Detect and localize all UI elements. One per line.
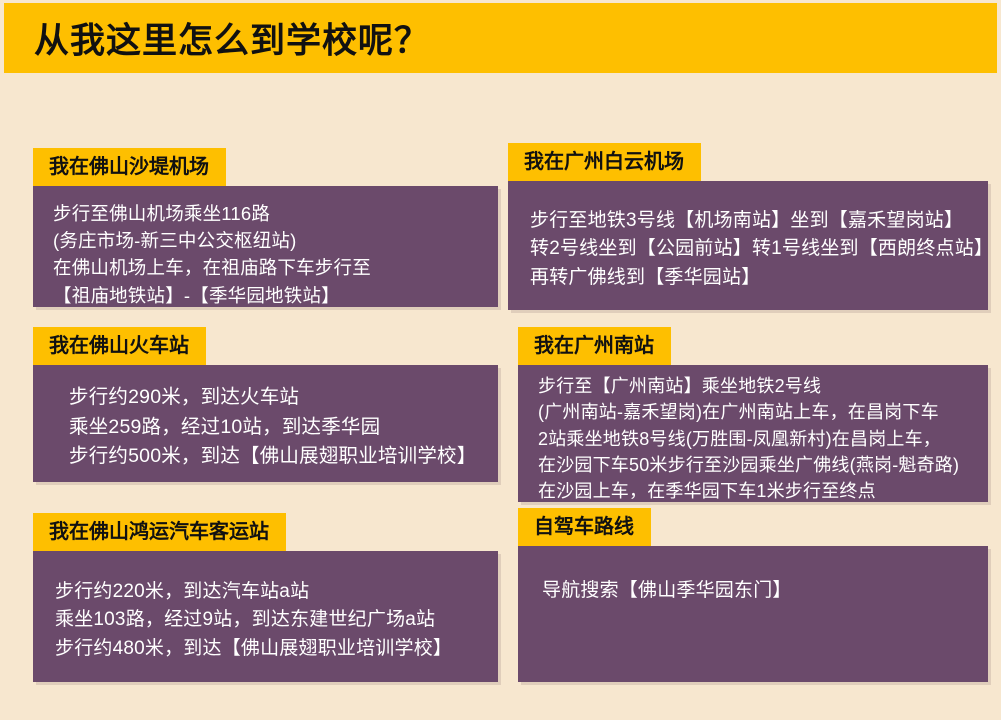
card-line: 再转广佛线到【季华园站】: [530, 264, 974, 293]
card-tab: 我在佛山沙堤机场: [33, 148, 226, 186]
card-line: 乘坐259路，经过10站，到达季华园: [69, 413, 484, 443]
card-foshan-shadi-airport: 步行至佛山机场乘坐116路 (务庄市场-新三中公交枢纽站) 在佛山机场上车，在祖…: [33, 148, 498, 307]
card-tab-label: 自驾车路线: [534, 517, 634, 537]
card-content: 步行至地铁3号线【机场南站】坐到【嘉禾望岗站】 转2号线坐到【公园前站】转1号线…: [508, 181, 988, 310]
card-tab: 自驾车路线: [518, 508, 651, 546]
card-body: 步行至【广州南站】乘坐地铁2号线 (广州南站-嘉禾望岗)在广州南站上车，在昌岗下…: [518, 365, 988, 502]
card-line: (务庄市场-新三中公交枢纽站): [53, 227, 484, 254]
card-line: 转2号线坐到【公园前站】转1号线坐到【西朗终点站】: [530, 235, 974, 264]
card-body: 步行约220米，到达汽车站a站 乘坐103路，经过9站，到达东建世纪广场a站 步…: [33, 551, 498, 682]
card-tab: 我在佛山火车站: [33, 327, 206, 365]
card-content: 步行至【广州南站】乘坐地铁2号线 (广州南站-嘉禾望岗)在广州南站上车，在昌岗下…: [518, 365, 988, 502]
card-line: 在沙园上车，在季华园下车1米步行至终点: [538, 478, 974, 504]
card-body: 步行至佛山机场乘坐116路 (务庄市场-新三中公交枢纽站) 在佛山机场上车，在祖…: [33, 186, 498, 307]
card-self-driving-route: 导航搜索【佛山季华园东门】 自驾车路线: [518, 508, 988, 682]
card-guangzhou-south-station: 步行至【广州南站】乘坐地铁2号线 (广州南站-嘉禾望岗)在广州南站上车，在昌岗下…: [518, 327, 988, 502]
card-tab: 我在佛山鸿运汽车客运站: [33, 513, 286, 551]
card-line: 步行约290米，到达火车站: [69, 383, 484, 413]
card-line: 步行约220米，到达汽车站a站: [55, 578, 484, 607]
card-tab-label: 我在佛山火车站: [49, 336, 189, 356]
card-line: 2站乘坐地铁8号线(万胜围-凤凰新村)在昌岗上车，: [538, 426, 974, 452]
card-content: 步行约220米，到达汽车站a站 乘坐103路，经过9站，到达东建世纪广场a站 步…: [33, 551, 498, 682]
card-foshan-hongyun-bus-station: 步行约220米，到达汽车站a站 乘坐103路，经过9站，到达东建世纪广场a站 步…: [33, 513, 498, 682]
card-line: 步行约500米，到达【佛山展翅职业培训学校】: [69, 442, 484, 472]
card-tab-label: 我在佛山沙堤机场: [49, 157, 209, 177]
card-line: (广州南站-嘉禾望岗)在广州南站上车，在昌岗下车: [538, 399, 974, 425]
page-title: 从我这里怎么到学校呢？: [34, 13, 430, 64]
card-line: 在沙园下车50米步行至沙园乘坐广佛线(燕岗-魁奇路): [538, 452, 974, 478]
card-tab-label: 我在广州白云机场: [524, 152, 684, 172]
card-line: 步行至佛山机场乘坐116路: [53, 200, 484, 227]
card-line: 步行约480米，到达【佛山展翅职业培训学校】: [55, 635, 484, 664]
card-tab-label: 我在广州南站: [534, 336, 654, 356]
card-line: 乘坐103路，经过9站，到达东建世纪广场a站: [55, 606, 484, 635]
card-body: 步行至地铁3号线【机场南站】坐到【嘉禾望岗站】 转2号线坐到【公园前站】转1号线…: [508, 181, 988, 310]
card-line: 在佛山机场上车，在祖庙路下车步行至: [53, 254, 484, 281]
card-content: 步行约290米，到达火车站 乘坐259路，经过10站，到达季华园 步行约500米…: [33, 365, 498, 482]
card-body: 导航搜索【佛山季华园东门】: [518, 546, 988, 682]
card-tab: 我在广州白云机场: [508, 143, 701, 181]
card-line: 导航搜索【佛山季华园东门】: [542, 578, 974, 605]
card-content: 导航搜索【佛山季华园东门】: [518, 546, 988, 682]
card-line: 步行至地铁3号线【机场南站】坐到【嘉禾望岗站】: [530, 207, 974, 236]
card-line: 步行至【广州南站】乘坐地铁2号线: [538, 373, 974, 399]
card-tab-label: 我在佛山鸿运汽车客运站: [49, 522, 269, 542]
card-guangzhou-baiyun-airport: 步行至地铁3号线【机场南站】坐到【嘉禾望岗站】 转2号线坐到【公园前站】转1号线…: [508, 143, 988, 310]
card-content: 步行至佛山机场乘坐116路 (务庄市场-新三中公交枢纽站) 在佛山机场上车，在祖…: [33, 186, 498, 307]
header-banner: 从我这里怎么到学校呢？: [4, 3, 997, 73]
card-tab: 我在广州南站: [518, 327, 671, 365]
card-line: 【祖庙地铁站】-【季华园地铁站】: [53, 282, 484, 309]
card-foshan-railway-station: 步行约290米，到达火车站 乘坐259路，经过10站，到达季华园 步行约500米…: [33, 327, 498, 482]
card-body: 步行约290米，到达火车站 乘坐259路，经过10站，到达季华园 步行约500米…: [33, 365, 498, 482]
